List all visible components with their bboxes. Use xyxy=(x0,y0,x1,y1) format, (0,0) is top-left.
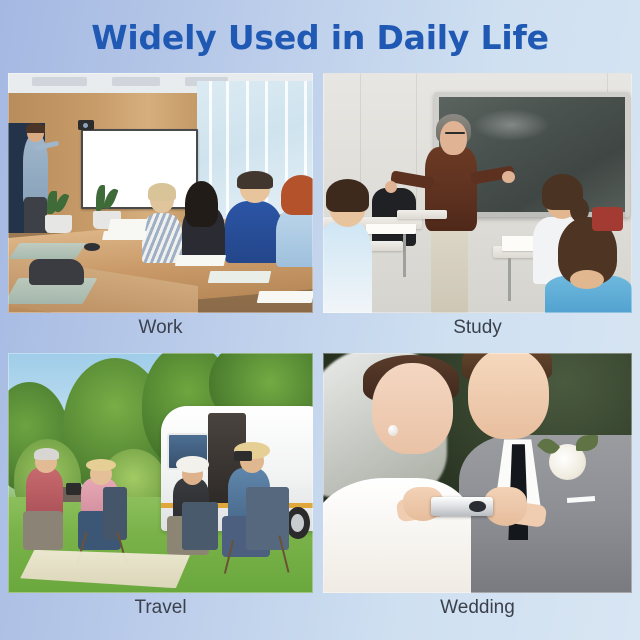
page-title: Widely Used in Daily Life xyxy=(0,18,640,57)
binoculars xyxy=(234,451,252,461)
caption-travel: Travel xyxy=(8,597,313,619)
caption-study: Study xyxy=(323,317,632,339)
video-camera-icon xyxy=(78,120,94,130)
card-study: Study xyxy=(323,73,632,353)
caption-wedding: Wedding xyxy=(323,597,632,619)
infographic-page: Widely Used in Daily Life xyxy=(0,0,640,640)
photo-wedding xyxy=(323,353,632,593)
caption-work: Work xyxy=(8,317,313,339)
card-wedding: Wedding xyxy=(323,353,632,633)
card-work: Work xyxy=(8,73,313,353)
voice-recorder-device xyxy=(431,497,493,516)
card-travel: Travel xyxy=(8,353,313,633)
photo-travel xyxy=(8,353,313,593)
bride xyxy=(323,478,471,593)
photo-study xyxy=(323,73,632,313)
photo-work xyxy=(8,73,313,313)
